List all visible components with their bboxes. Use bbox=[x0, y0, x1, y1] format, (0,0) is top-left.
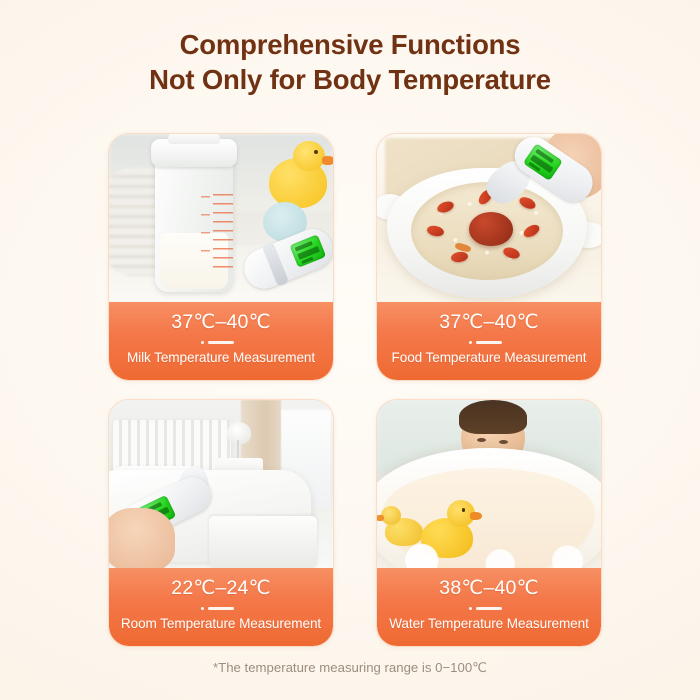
banner-divider bbox=[208, 607, 234, 610]
card-caption: Milk Temperature Measurement bbox=[109, 350, 333, 365]
bottle-cap bbox=[151, 139, 237, 167]
photo-water-temperature bbox=[377, 400, 601, 568]
banner-divider bbox=[476, 341, 502, 344]
feature-card-room[interactable]: 22℃‒24℃ Room Temperature Measurement bbox=[108, 399, 334, 647]
baby-eye-left bbox=[477, 438, 486, 442]
bottle-scale-marks bbox=[213, 194, 233, 270]
headline-line-1: Comprehensive Functions bbox=[180, 29, 521, 60]
product-feature-page: Comprehensive Functions Not Only for Bod… bbox=[0, 0, 700, 700]
headline-line-2: Not Only for Body Temperature bbox=[0, 62, 700, 97]
banner-divider bbox=[476, 607, 502, 610]
table-lamp bbox=[227, 422, 251, 444]
card-caption: Room Temperature Measurement bbox=[109, 616, 333, 631]
red-date bbox=[469, 212, 513, 246]
card-banner: 22℃‒24℃ Room Temperature Measurement bbox=[109, 568, 333, 646]
photo-food-temperature bbox=[377, 134, 601, 302]
feature-card-water[interactable]: 38℃‒40℃ Water Temperature Measurement bbox=[376, 399, 602, 647]
card-banner: 38℃‒40℃ Water Temperature Measurement bbox=[377, 568, 601, 646]
lamp-stand bbox=[237, 440, 239, 460]
temperature-range: 38℃‒40℃ bbox=[377, 576, 601, 600]
page-title: Comprehensive Functions Not Only for Bod… bbox=[0, 27, 700, 97]
baby-eye-right bbox=[499, 440, 508, 444]
photo-room-temperature bbox=[109, 400, 333, 568]
feature-card-milk[interactable]: 37℃‒40℃ Milk Temperature Measurement bbox=[108, 133, 334, 381]
feature-card-grid: 37℃‒40℃ Milk Temperature Measurement bbox=[108, 133, 600, 645]
card-banner: 37℃‒40℃ Food Temperature Measurement bbox=[377, 302, 601, 380]
card-banner: 37℃‒40℃ Milk Temperature Measurement bbox=[109, 302, 333, 380]
card-caption: Food Temperature Measurement bbox=[377, 350, 601, 365]
bath-foam bbox=[377, 540, 601, 568]
feature-card-food[interactable]: 37℃‒40℃ Food Temperature Measurement bbox=[376, 133, 602, 381]
photo-milk-temperature bbox=[109, 134, 333, 302]
temperature-range: 37℃‒40℃ bbox=[377, 310, 601, 334]
temperature-range: 37℃‒40℃ bbox=[109, 310, 333, 334]
banner-divider bbox=[208, 341, 234, 344]
footnote: *The temperature measuring range is 0−10… bbox=[0, 660, 700, 676]
card-caption: Water Temperature Measurement bbox=[377, 616, 601, 631]
hand bbox=[109, 508, 175, 568]
rubber-duck-icon bbox=[269, 158, 327, 208]
baby-hair bbox=[459, 400, 527, 434]
bottle-scale-numbers bbox=[201, 196, 210, 268]
temperature-range: 22℃‒24℃ bbox=[109, 576, 333, 600]
